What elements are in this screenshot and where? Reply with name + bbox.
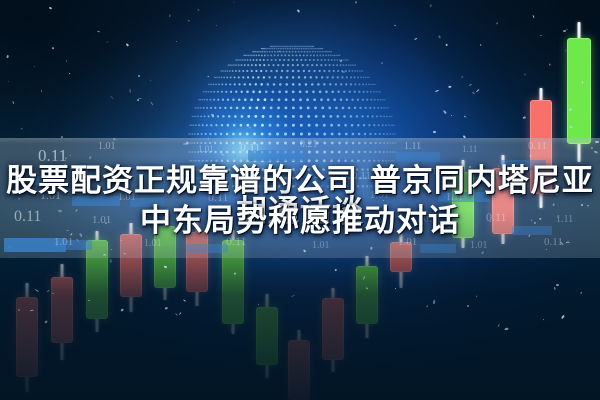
speckle <box>438 35 441 39</box>
speckle <box>45 320 48 323</box>
speckle <box>291 295 295 298</box>
speckle <box>561 315 565 319</box>
speckle <box>110 96 113 99</box>
band-number: 0.11 <box>240 140 261 155</box>
band-number: 1.11 <box>404 141 421 152</box>
speckle <box>550 63 551 65</box>
band-number: 1.01 <box>470 240 488 251</box>
speckle <box>69 72 71 74</box>
speckle <box>543 319 545 321</box>
speckle <box>451 115 452 116</box>
speckle <box>188 20 190 21</box>
speckle <box>106 42 108 43</box>
speckle <box>435 90 439 92</box>
speckle <box>165 307 168 310</box>
band-number: 1.01 <box>144 238 162 249</box>
speckle <box>565 49 567 51</box>
speckle <box>433 131 436 133</box>
speckle <box>233 2 234 3</box>
speckle <box>469 84 472 86</box>
speckle <box>556 284 559 286</box>
speckle <box>129 88 131 92</box>
band-number: 1.01 <box>198 144 214 154</box>
speckle <box>354 1 357 3</box>
speckle <box>580 292 583 294</box>
speckle <box>41 90 43 92</box>
speckle <box>443 110 447 114</box>
speckle <box>216 25 217 26</box>
banner-image: 0.111.011.010.110.211.111.110.111.111.01… <box>0 0 600 400</box>
speckle <box>460 76 463 79</box>
speckle <box>35 289 39 292</box>
speckle <box>525 73 526 75</box>
speckle <box>97 31 100 33</box>
speckle <box>340 60 342 62</box>
speckle <box>414 38 417 41</box>
band-number: 1.11 <box>462 144 477 154</box>
speckle <box>448 86 452 88</box>
speckle <box>8 81 10 83</box>
speckle <box>18 309 20 311</box>
band-number: 0.21 <box>300 139 318 150</box>
speckle <box>207 76 210 78</box>
speckle <box>150 101 153 105</box>
speckle <box>297 9 300 13</box>
band-number: 0.11 <box>528 140 547 152</box>
speckle <box>6 55 9 59</box>
speckle <box>523 117 526 119</box>
headline-line-2: 中东局势称愿推动对话 <box>0 206 600 237</box>
speckle <box>52 293 54 294</box>
speckle <box>464 116 466 118</box>
speckle <box>34 66 36 68</box>
speckle <box>150 80 152 82</box>
speckle <box>563 29 566 31</box>
speckle <box>433 299 436 302</box>
speckle <box>176 41 178 43</box>
speckle <box>362 276 365 280</box>
band-number: 0.11 <box>544 236 563 248</box>
speckle <box>258 304 259 306</box>
speckle <box>505 328 509 331</box>
speckle <box>49 6 52 9</box>
speckle <box>394 25 397 27</box>
speckle <box>109 259 111 263</box>
speckle <box>88 300 91 302</box>
speckle <box>479 44 481 46</box>
speckle <box>471 91 475 94</box>
speckle <box>554 287 556 291</box>
speckle <box>569 108 572 111</box>
speckle <box>120 309 123 312</box>
speckle <box>477 89 480 92</box>
speckle <box>426 305 428 307</box>
speckle <box>211 114 215 116</box>
speckle <box>566 29 568 31</box>
speckle <box>497 324 500 327</box>
speckle <box>446 43 448 45</box>
speckle <box>52 46 54 49</box>
speckle <box>582 81 583 84</box>
speckle <box>540 34 542 35</box>
speckle <box>30 310 34 311</box>
speckle <box>248 127 250 129</box>
speckle <box>21 128 23 130</box>
band-number: 1.01 <box>312 240 330 251</box>
speckle <box>279 51 280 52</box>
speckle <box>532 15 534 18</box>
speckle <box>138 74 141 77</box>
speckle <box>12 101 14 104</box>
speckle <box>65 60 67 62</box>
speckle <box>164 265 168 268</box>
speckle <box>496 22 498 24</box>
speckle <box>183 299 186 302</box>
band-number: 1.01 <box>98 141 116 152</box>
speckle <box>366 287 368 289</box>
speckle <box>429 4 432 8</box>
speckle <box>569 126 573 129</box>
speckle <box>335 269 337 272</box>
speckle <box>137 99 140 102</box>
speckle <box>234 272 236 275</box>
speckle <box>476 295 478 297</box>
speckle <box>583 94 584 95</box>
speckle <box>342 71 345 72</box>
speckle <box>168 14 170 17</box>
speckle <box>47 289 50 292</box>
speckle <box>179 312 181 315</box>
band-number: 1.01 <box>54 236 73 248</box>
speckle <box>394 288 396 289</box>
speckle <box>126 43 129 46</box>
speckle <box>198 9 200 10</box>
speckle <box>467 305 470 308</box>
speckle <box>381 62 384 65</box>
